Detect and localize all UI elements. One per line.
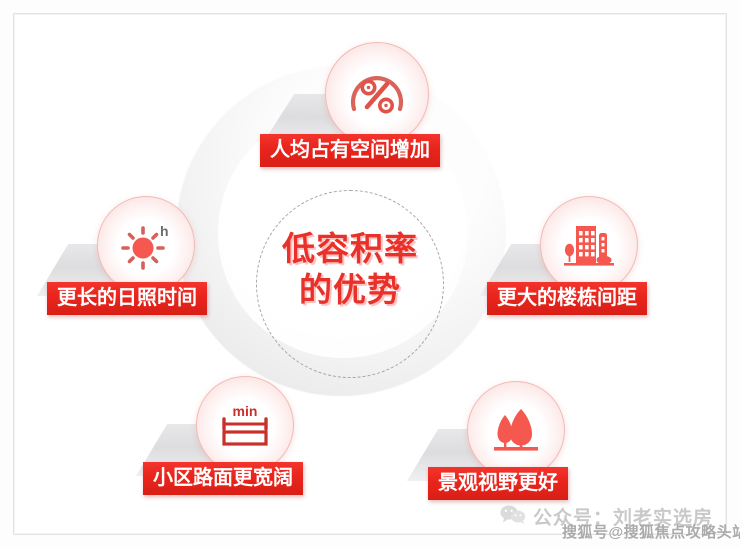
- center-title-line2: 的优势: [258, 269, 442, 310]
- sun-hours-icon: h: [117, 218, 175, 272]
- svg-text:h: h: [160, 223, 169, 239]
- center-title-line1: 低容积率: [282, 230, 418, 267]
- center-title: 低容积率 的优势: [258, 228, 442, 310]
- buildings-icon: [560, 218, 618, 272]
- node-bubble: [325, 42, 429, 146]
- infographic-canvas: 低容积率 的优势 人均占有空间增加: [0, 0, 740, 547]
- svg-text:min: min: [233, 403, 258, 419]
- sohu-watermark-text: 搜狐号@搜狐焦点攻略头站: [562, 521, 740, 542]
- node-label-banner[interactable]: 更长的日照时间: [47, 282, 207, 315]
- node-label-banner[interactable]: 更大的楼栋间距: [487, 282, 647, 315]
- node-bubble: [467, 381, 565, 479]
- node-label-banner[interactable]: 小区路面更宽阔: [143, 462, 303, 495]
- trees-icon: [488, 404, 544, 456]
- node-bubble: h: [97, 196, 195, 294]
- node-bubble: [540, 196, 638, 294]
- node-label-banner[interactable]: 景观视野更好: [428, 467, 568, 500]
- node-bubble: min: [196, 376, 294, 474]
- node-label-banner[interactable]: 人均占有空间增加: [260, 134, 440, 167]
- percent-gauge-icon: [347, 67, 407, 121]
- wechat-icon: [500, 504, 526, 530]
- road-width-min-icon: min: [215, 398, 275, 452]
